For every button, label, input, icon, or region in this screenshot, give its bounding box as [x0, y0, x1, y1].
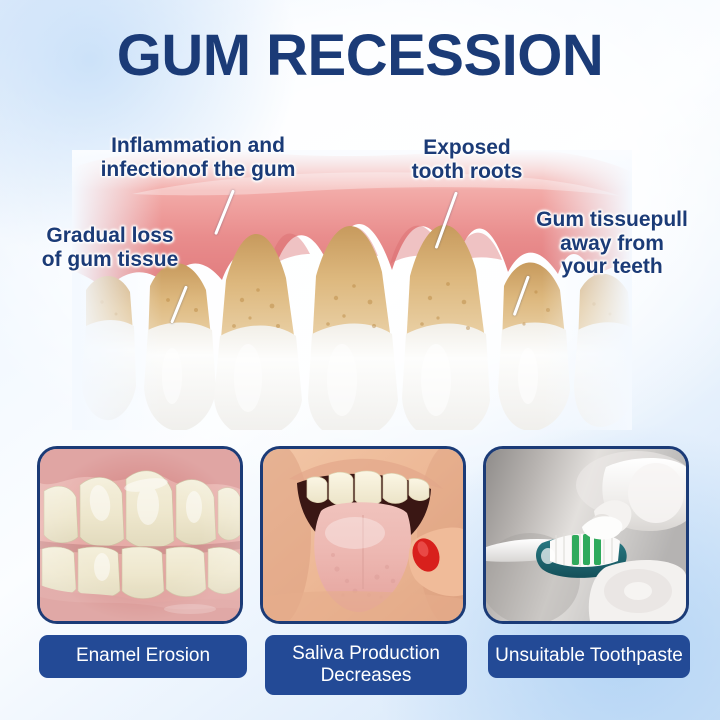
callout-exposed-roots-line1: Exposed — [392, 136, 542, 160]
callout-exposed-roots-line2: tooth roots — [392, 160, 542, 184]
card-saliva-production[interactable]: Saliva Production Decreases — [260, 446, 460, 695]
page-title: GUM RECESSION — [0, 27, 720, 85]
cause-cards: Enamel Erosion — [0, 446, 720, 695]
callout-inflammation-line2: infectionof the gum — [68, 158, 328, 182]
toothbrush-toothpaste-photo — [483, 446, 689, 624]
callout-gum-pull-away: Gum tissuepull away from your teeth — [512, 208, 712, 279]
callout-inflammation-line1: Inflammation and — [68, 134, 328, 158]
callout-gum-pull-away-line3: your teeth — [512, 255, 712, 279]
callout-exposed-roots: Exposed tooth roots — [392, 136, 542, 183]
callout-inflammation: Inflammation and infectionof the gum — [68, 134, 328, 181]
callout-gradual-loss-line2: of gum tissue — [10, 248, 210, 272]
card-unsuitable-toothpaste[interactable]: Unsuitable Toothpaste — [483, 446, 683, 695]
gum-recession-infographic: GUM RECESSION — [0, 0, 720, 720]
caption-saliva-production: Saliva Production Decreases — [265, 635, 467, 695]
callout-gum-pull-away-line2: away from — [512, 232, 712, 256]
caption-enamel-erosion: Enamel Erosion — [39, 635, 247, 678]
card-enamel-erosion[interactable]: Enamel Erosion — [37, 446, 237, 695]
callout-gradual-loss-line1: Gradual loss — [10, 224, 210, 248]
close-up-teeth-gums-photo — [37, 446, 243, 624]
receding-gums-illustration — [72, 150, 632, 430]
mouth-tongue-out-photo — [260, 446, 466, 624]
caption-unsuitable-toothpaste: Unsuitable Toothpaste — [488, 635, 690, 678]
callout-gum-pull-away-line1: Gum tissuepull — [512, 208, 712, 232]
callout-gradual-loss: Gradual loss of gum tissue — [10, 224, 210, 271]
